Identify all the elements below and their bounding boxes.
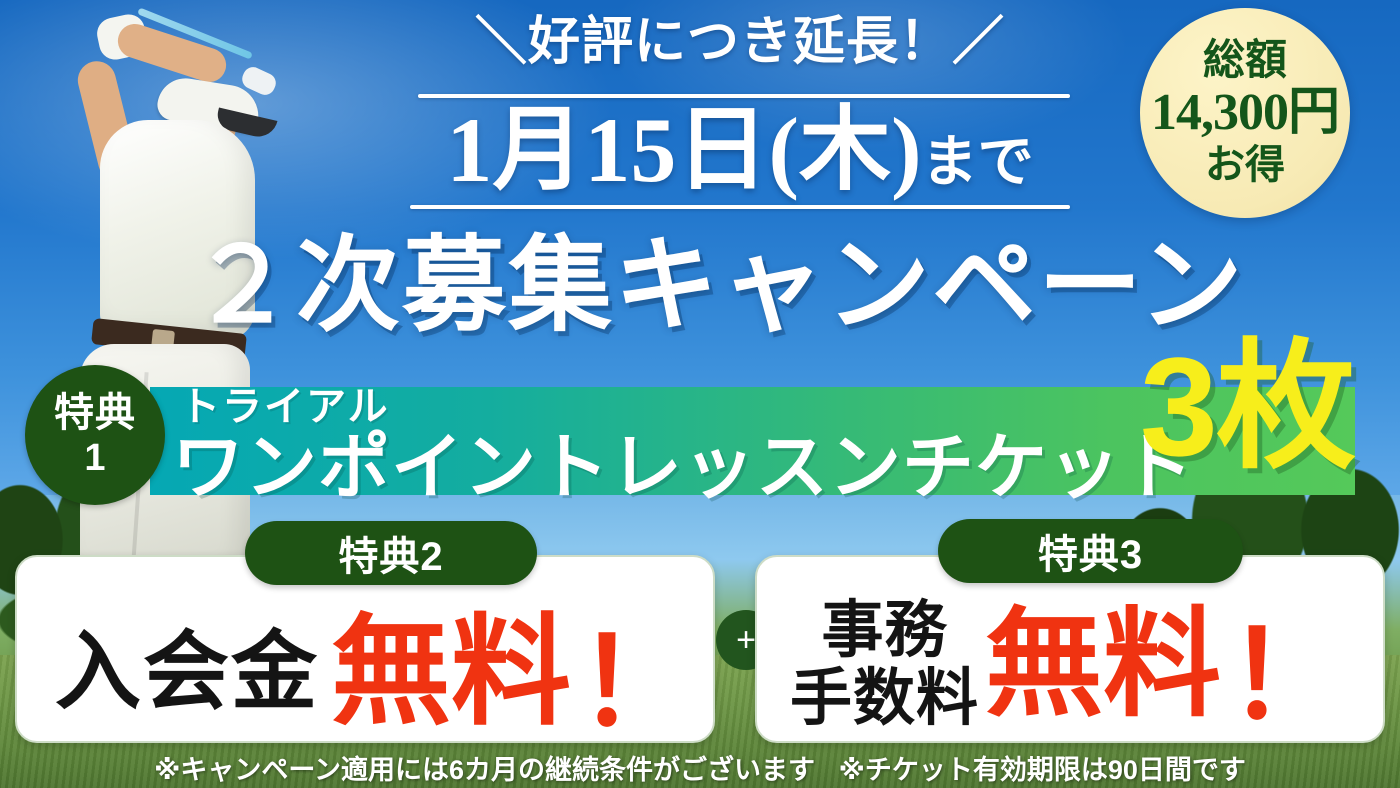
benefit2-content: 入会金 無料 ！ [55, 585, 697, 759]
benefit3-subject-line1: 事務 [822, 596, 948, 665]
benefit1-tag-label: 特典 [54, 393, 136, 433]
benefit3-subject-line2: 手数料 [790, 664, 979, 733]
benefit2-subject: 入会金 [55, 626, 319, 718]
benefit1-tag-number: 1 [84, 439, 105, 477]
benefit3-content: 事務 手数料 無料 ！ [790, 578, 1347, 752]
footer-note-1: ※キャンペーン適用には6カ月の継続条件がございます [154, 755, 815, 785]
campaign-kicker: ＼好評につき延長！／ [410, 16, 1070, 71]
savings-badge: 総額 14,300円 お得 [1140, 8, 1350, 218]
benefit2-pill: 特典2 [245, 521, 537, 585]
savings-badge-amount: 14,300円 [1151, 84, 1339, 142]
footer-notes: ※キャンペーン適用には6カ月の継続条件がございます ※チケット有効期限は90日間… [0, 748, 1400, 787]
benefit3-price: 無料 [985, 604, 1221, 726]
savings-badge-line1: 総額 [1203, 38, 1287, 84]
benefit3-subject: 事務 手数料 [790, 597, 979, 733]
benefit2-price: 無料 [331, 610, 571, 734]
campaign-deadline: 1月15日(木)まで [400, 96, 1080, 217]
savings-badge-line3: お得 [1205, 142, 1285, 188]
campaign-banner: ＼好評につき延長！／ 1月15日(木)まで 総額 14,300円 お得 ２次募集… [0, 0, 1400, 788]
benefit1-quantity: 3枚 [1140, 332, 1354, 482]
deadline-suffix: まで [922, 132, 1034, 194]
rule-bottom-divider [410, 205, 1070, 209]
footer-note-2: ※チケット有効期限は90日間です [839, 755, 1246, 785]
benefit3-pill: 特典3 [938, 519, 1243, 583]
deadline-date: 1月15日(木) [446, 99, 921, 201]
golfer-forearm [113, 20, 230, 87]
benefit2-exclamation: ！ [577, 585, 697, 759]
benefit1-name: ワンポイントレッスンチケット [172, 408, 1194, 513]
benefit3-exclamation: ！ [1227, 578, 1347, 752]
benefit1-tag: 特典 1 [25, 365, 165, 505]
